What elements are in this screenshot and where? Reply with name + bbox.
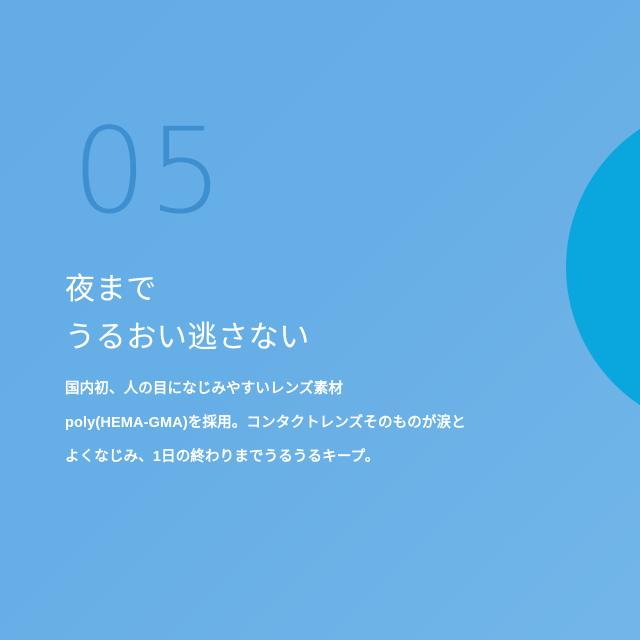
decorative-circle (566, 101, 640, 433)
step-number: 05 (72, 112, 225, 230)
headline-line-2: うるおい逃さない (65, 314, 310, 362)
headline: 夜まで うるおい逃さない (65, 266, 310, 362)
headline-line-1: 夜まで (65, 266, 310, 314)
body-line-3: よくなじみ、1日の終わりまでうるうるキープ。 (65, 440, 466, 474)
promo-slide: 05 夜まで うるおい逃さない 国内初、人の目になじみやすいレンズ素材 poly… (0, 0, 640, 640)
body-copy: 国内初、人の目になじみやすいレンズ素材 poly(HEMA-GMA)を採用。コン… (65, 372, 466, 474)
body-line-2: poly(HEMA-GMA)を採用。コンタクトレンズそのものが涙と (65, 406, 466, 440)
body-line-1: 国内初、人の目になじみやすいレンズ素材 (65, 372, 466, 406)
